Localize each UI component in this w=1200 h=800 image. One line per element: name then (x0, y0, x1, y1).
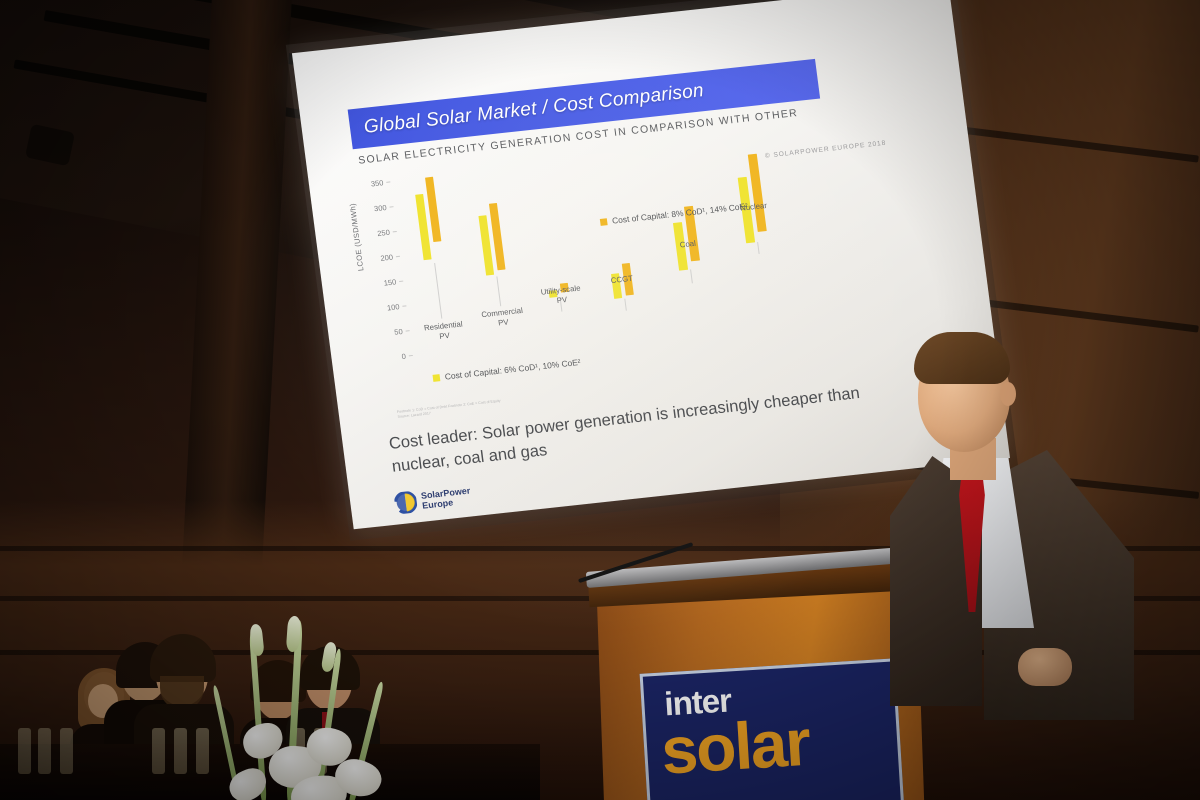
legend-swatch-high (600, 218, 608, 226)
y-tick-300: 300 (364, 203, 387, 214)
y-tick-250: 250 (367, 228, 390, 239)
legend-low-label: Cost of Capital: 6% CoD¹, 10% CoE² (444, 357, 581, 382)
water-bottle (60, 728, 73, 774)
cat-stem (624, 299, 627, 311)
presentation-photo: Global Solar Market / Cost Comparison SO… (0, 0, 1200, 800)
legend-swatch-low (432, 374, 440, 382)
y-tick-0: 0 (383, 352, 406, 363)
y-tick-150: 150 (374, 277, 397, 288)
cat-residential: Residential PV (412, 318, 476, 344)
cat-stem (496, 276, 501, 306)
water-bottle (174, 728, 187, 774)
cat-coal: Coal (659, 237, 716, 253)
solarpower-europe-logo: SolarPowerEurope (393, 485, 472, 515)
y-axis-label: LCOE (USD/MWh) (348, 203, 366, 272)
logo-mark-icon (393, 490, 418, 514)
y-tick-50: 50 (380, 327, 403, 338)
cat-stem (434, 263, 442, 319)
speaker-hair (914, 332, 1010, 384)
y-tick-350: 350 (361, 178, 384, 189)
cat-utility: Utility-scale PV (528, 282, 594, 308)
lcoe-chart: LCOE (USD/MWh) 350 300 250 200 150 100 5… (360, 114, 946, 403)
speaker-person (900, 330, 1200, 730)
speaker-hand (1018, 648, 1072, 686)
cat-commercial: Commercial PV (471, 305, 535, 331)
cat-ccgt: CCGT (591, 272, 652, 288)
cat-stem (690, 269, 693, 283)
cat-stem (757, 242, 760, 254)
legend-low-cost: Cost of Capital: 6% CoD¹, 10% CoE² (432, 357, 581, 383)
intersolar-solar-text: solar (659, 709, 811, 784)
water-bottle (38, 728, 51, 774)
flower-arrangement (195, 620, 425, 800)
projection-screen-area: Global Solar Market / Cost Comparison SO… (255, 2, 955, 602)
water-bottle (18, 728, 31, 774)
copyright-notice: © SOLARPOWER EUROPE 2018 (765, 140, 887, 160)
y-tick-100: 100 (377, 302, 400, 313)
logo-text: SolarPowerEurope (420, 485, 472, 510)
intersolar-sign: inter solar (640, 658, 905, 800)
water-bottle (152, 728, 165, 774)
y-tick-200: 200 (371, 253, 394, 264)
logo-line2: Europe (422, 497, 454, 510)
source-note: Footnote 1: CoD = Cost of Debt Footnote … (397, 399, 502, 421)
speaker-ear (1000, 382, 1016, 406)
